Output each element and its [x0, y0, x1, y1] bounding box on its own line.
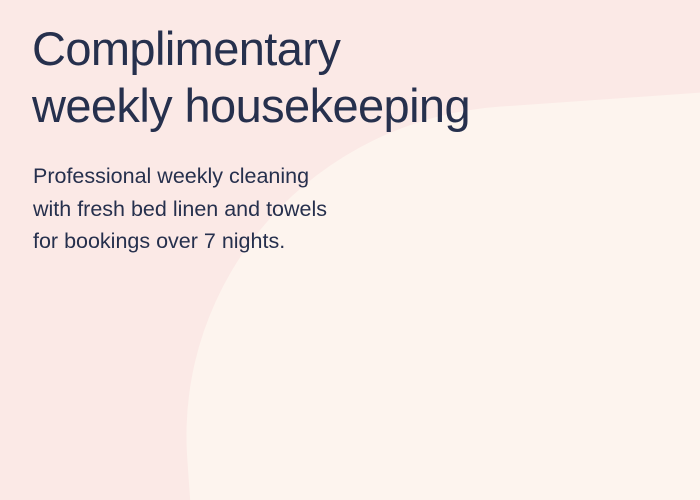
subcopy-line-1: Professional weekly cleaning	[33, 160, 463, 193]
promo-banner: Complimentary weekly housekeeping Profes…	[0, 0, 700, 500]
page-title: Complimentary weekly housekeeping	[32, 20, 652, 135]
headline-line-2: weekly housekeeping	[32, 77, 652, 134]
subcopy: Professional weekly cleaning with fresh …	[33, 160, 463, 258]
subcopy-line-3: for bookings over 7 nights.	[33, 225, 463, 258]
headline-line-1: Complimentary	[32, 20, 652, 77]
subcopy-line-2: with fresh bed linen and towels	[33, 193, 463, 226]
